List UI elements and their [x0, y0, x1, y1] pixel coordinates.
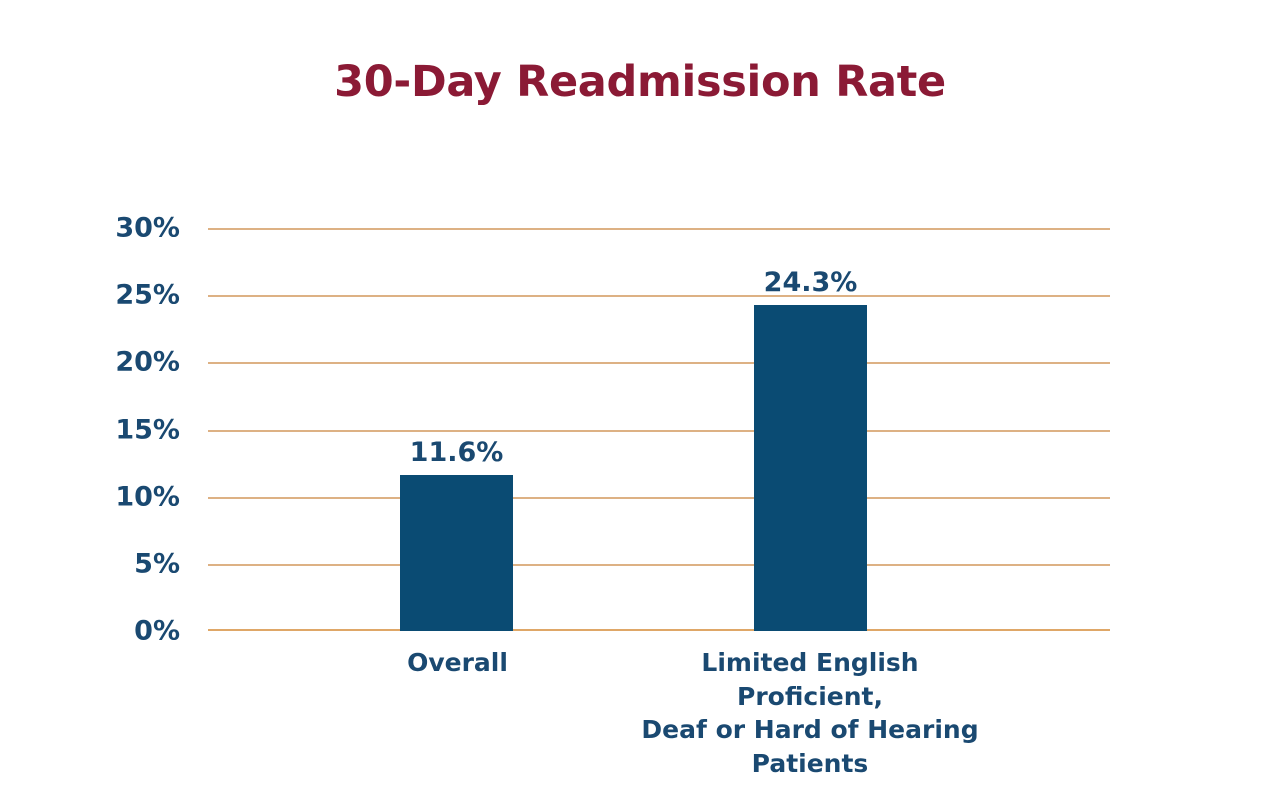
gridline-25	[208, 295, 1110, 297]
bar-lep-deaf-hoh[interactable]	[754, 305, 867, 631]
y-tick-label-30: 30%	[0, 215, 192, 242]
chart-container: 30-Day Readmission Rate 0% 5% 10% 15% 20…	[0, 0, 1280, 802]
category-label-lep-deaf-hoh-line-2: Proficient,	[620, 680, 1000, 714]
category-label-overall-line-1: Overall	[306, 646, 609, 680]
gridline-20	[208, 362, 1110, 364]
bar-value-label-overall: 11.6%	[391, 439, 522, 466]
gridline-30	[208, 228, 1110, 230]
bar-value-label-lep-deaf-hoh: 24.3%	[745, 269, 876, 296]
y-tick-label-25: 25%	[0, 282, 192, 309]
y-tick-label-0: 0%	[0, 618, 192, 645]
gridline-15	[208, 430, 1110, 432]
gridline-5	[208, 564, 1110, 566]
y-tick-label-10: 10%	[0, 483, 192, 510]
category-label-overall: Overall	[306, 646, 609, 680]
category-label-lep-deaf-hoh-line-3: Deaf or Hard of Hearing	[620, 713, 1000, 747]
gridline-10	[208, 497, 1110, 499]
y-tick-label-15: 15%	[0, 416, 192, 443]
plot-area	[208, 228, 1110, 631]
category-label-lep-deaf-hoh: Limited English Proficient, Deaf or Hard…	[620, 646, 1000, 780]
chart-title: 30-Day Readmission Rate	[0, 58, 1280, 107]
bar-overall[interactable]	[400, 475, 513, 631]
category-label-lep-deaf-hoh-line-1: Limited English	[620, 646, 1000, 680]
y-axis: 0% 5% 10% 15% 20% 25% 30%	[0, 228, 192, 631]
category-label-lep-deaf-hoh-line-4: Patients	[620, 747, 1000, 781]
y-tick-label-5: 5%	[0, 550, 192, 577]
y-tick-label-20: 20%	[0, 349, 192, 376]
gridline-baseline-0	[208, 629, 1110, 631]
